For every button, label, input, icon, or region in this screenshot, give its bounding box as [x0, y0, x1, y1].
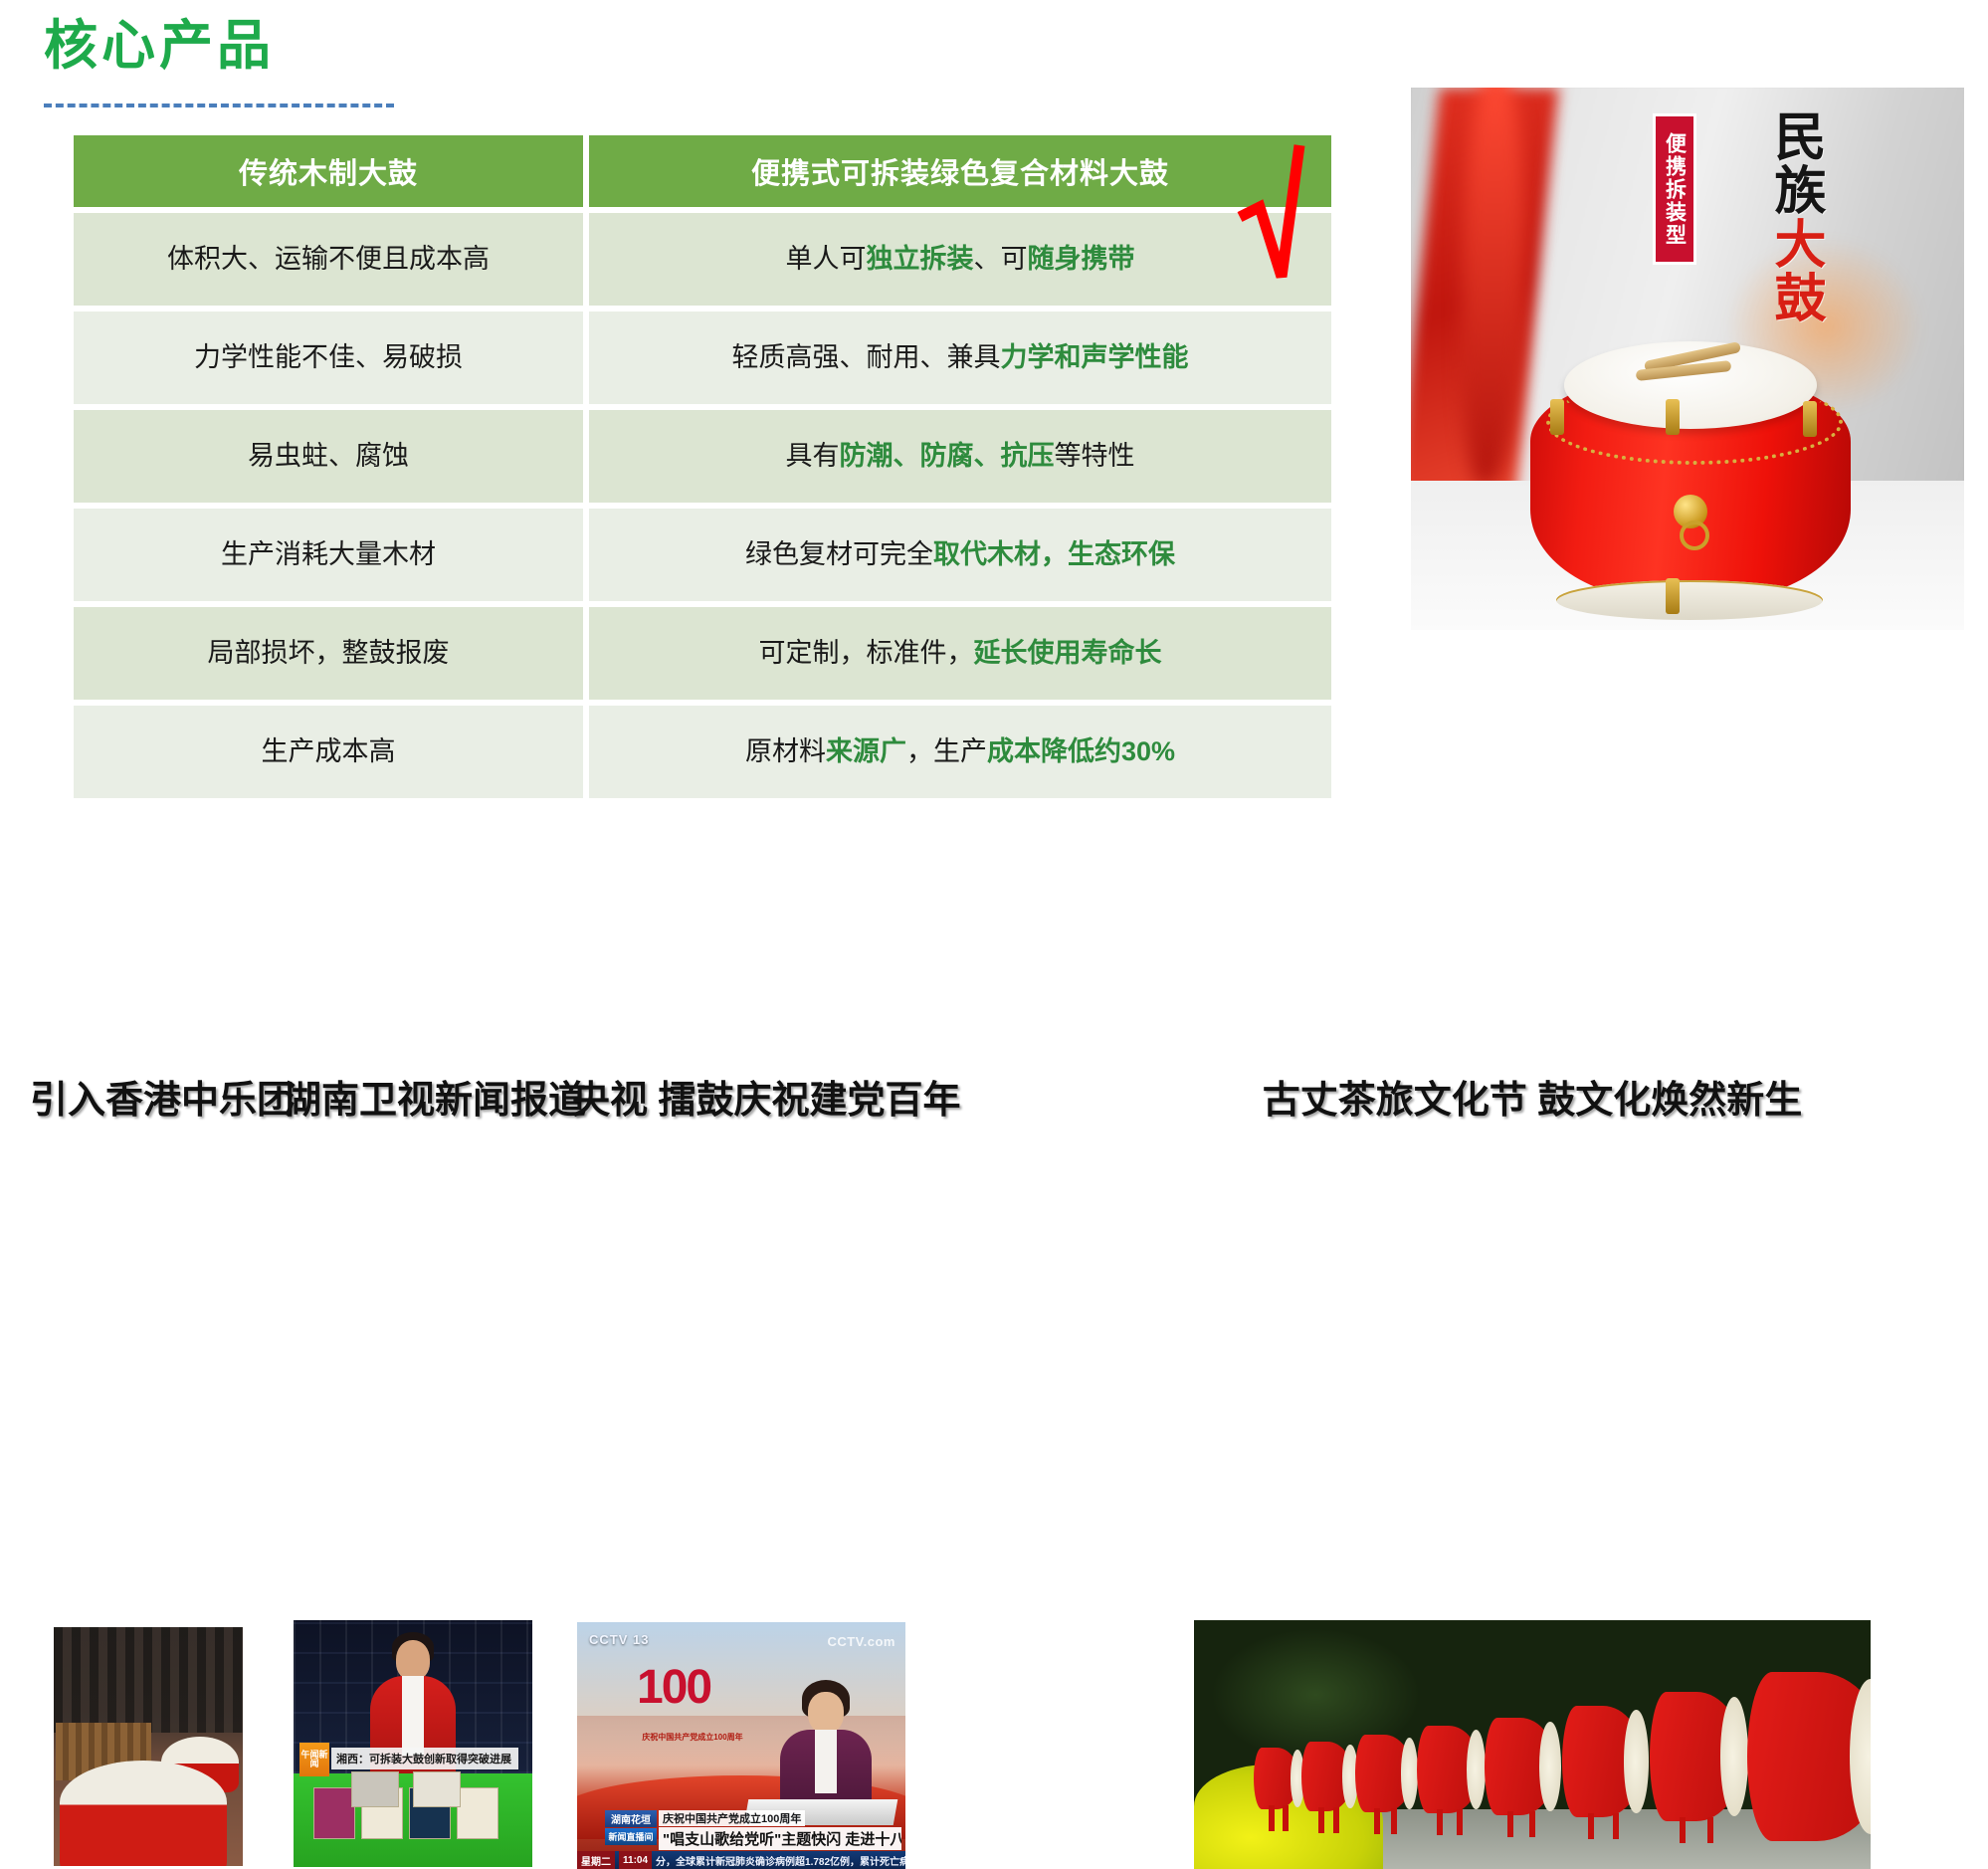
photo-strip: 午闻新闻 湘西：可拆装大鼓创新取得突破进展 CCTV 13 CCTV.com 1…	[0, 806, 1988, 1065]
table-cell-composite: 轻质高强、耐用、兼具力学和声学性能	[589, 311, 1331, 404]
photo-hunan-tv: 午闻新闻 湘西：可拆装大鼓创新取得突破进展	[294, 1620, 532, 1867]
festival-drum	[1417, 1726, 1481, 1813]
table-cell-traditional: 生产消耗大量木材	[74, 509, 583, 601]
table-header-row: 传统木制大鼓 便携式可拆装绿色复合材料大鼓	[74, 135, 1331, 207]
cctv-web-bug: CCTV.com	[827, 1634, 895, 1649]
festival-drum	[1562, 1706, 1644, 1817]
photo-cctv-news: CCTV 13 CCTV.com 100 庆祝中国共产党成立100周年 湖南花垣…	[577, 1622, 905, 1869]
photo-anchor-face	[808, 1692, 844, 1734]
party-centenary-logo-subtitle: 庆祝中国共产党成立100周年	[629, 1732, 756, 1743]
drum-bottom-rim	[1556, 580, 1823, 620]
table-row: 生产消耗大量木材 绿色复材可完全取代木材，生态环保	[74, 509, 1331, 601]
table-cell-traditional: 生产成本高	[74, 706, 583, 798]
table-cell-composite: 原材料来源广，生产成本降低约30%	[589, 706, 1331, 798]
news-headline-main: "唱支山歌给党听"主题快闪 走进十八洞村	[659, 1827, 901, 1850]
photo-anchor-shirt	[402, 1676, 424, 1756]
product-title-red: 大鼓	[1765, 217, 1826, 324]
photo-anchor-shirt	[815, 1730, 837, 1793]
caption-hunan-tv: 湖南卫视新闻报道	[284, 1069, 547, 1124]
photo-certificate	[413, 1771, 461, 1807]
page-title: 核心产品	[44, 18, 275, 75]
news-ticker-time: 11:04	[619, 1851, 652, 1869]
photo-seats-background	[54, 1627, 243, 1733]
photo-program-badge: 午闻新闻	[299, 1743, 329, 1776]
table-cell-traditional: 力学性能不佳、易破损	[74, 311, 583, 404]
table-row: 体积大、运输不便且成本高 单人可独立拆装、可随身携带	[74, 213, 1331, 306]
festival-drum	[1301, 1742, 1353, 1811]
drum-clip	[1803, 401, 1817, 437]
photo-certificate	[457, 1787, 498, 1839]
title-underline-rule	[44, 104, 394, 107]
party-centenary-logo: 100	[637, 1664, 746, 1726]
table-row: 易虫蛀、腐蚀 具有防潮、防腐、抗压等特性	[74, 410, 1331, 503]
drum-illustration	[1516, 327, 1865, 626]
table-header-composite: 便携式可拆装绿色复合材料大鼓	[589, 135, 1331, 207]
drum-clip	[1550, 399, 1564, 435]
photo-captions: 引入香港中乐团 湖南卫视新闻报道 央视 擂鼓庆祝建党百年 古丈茶旅文化节 鼓文化…	[0, 1069, 1988, 1139]
festival-drum	[1254, 1748, 1299, 1809]
table-row: 力学性能不佳、易破损 轻质高强、耐用、兼具力学和声学性能	[74, 311, 1331, 404]
title-block: 核心产品	[44, 18, 275, 75]
photo-lower-third: 湘西：可拆装大鼓创新取得突破进展	[331, 1748, 518, 1769]
photo-big-drum	[60, 1761, 227, 1866]
festival-drum	[1650, 1692, 1743, 1821]
festival-drum	[1485, 1718, 1556, 1815]
festival-drum	[1355, 1735, 1413, 1812]
drum-brass-ring-handle	[1674, 495, 1707, 528]
news-ticker-day: 星期二	[577, 1851, 615, 1869]
news-ticker-text: 分，全球累计新冠肺炎确诊病例超1.782亿例，累计死亡病例超386万例。	[656, 1853, 905, 1868]
table-header-traditional: 传统木制大鼓	[74, 135, 583, 207]
news-location-tag: 湖南花垣	[605, 1810, 657, 1827]
table-cell-composite: 单人可独立拆装、可随身携带	[589, 213, 1331, 306]
drum-clip	[1666, 578, 1680, 614]
table-row: 生产成本高 原材料来源广，生产成本降低约30%	[74, 706, 1331, 798]
product-title-calligraphy: 民族大鼓	[1692, 109, 1822, 324]
photo-hk-orchestra	[54, 1627, 243, 1866]
product-title-black: 民族	[1765, 109, 1826, 217]
product-comparison-table: 传统木制大鼓 便携式可拆装绿色复合材料大鼓 体积大、运输不便且成本高 单人可独立…	[74, 135, 1331, 798]
news-ticker: 星期二 11:04 分，全球累计新冠肺炎确诊病例超1.782亿例，累计死亡病例超…	[577, 1851, 905, 1869]
caption-tea-festival: 古丈茶旅文化节 鼓文化焕然新生	[1184, 1069, 1881, 1124]
photo-news-anchor	[780, 1680, 872, 1807]
table-cell-traditional: 局部损坏，整鼓报废	[74, 607, 583, 700]
photo-tea-festival	[1194, 1620, 1871, 1869]
cctv-channel-bug: CCTV 13	[589, 1632, 649, 1647]
caption-cctv-news: 央视 擂鼓庆祝建党百年	[572, 1069, 915, 1124]
table-cell-composite: 绿色复材可完全取代木材，生态环保	[589, 509, 1331, 601]
photo-certificate	[313, 1787, 355, 1839]
table-row: 局部损坏，整鼓报废 可定制，标准件，延长使用寿命长	[74, 607, 1331, 700]
table-cell-composite: 可定制，标准件，延长使用寿命长	[589, 607, 1331, 700]
drum-clip	[1666, 399, 1680, 435]
photo-anchor-head	[396, 1640, 430, 1680]
product-badge: 便携拆装型	[1653, 113, 1696, 265]
news-program-tag: 新闻直播间	[605, 1828, 657, 1845]
festival-drum-foreground	[1747, 1672, 1871, 1841]
product-hero-image: 便携拆装型 民族大鼓	[1411, 88, 1964, 630]
caption-hk-orchestra: 引入香港中乐团	[30, 1069, 269, 1124]
photo-certificate	[351, 1771, 399, 1807]
table-cell-composite: 具有防潮、防腐、抗压等特性	[589, 410, 1331, 503]
product-badge-label: 便携拆装型	[1665, 132, 1686, 247]
news-headline-top: 庆祝中国共产党成立100周年	[659, 1810, 805, 1826]
table-cell-traditional: 体积大、运输不便且成本高	[74, 213, 583, 306]
table-cell-traditional: 易虫蛀、腐蚀	[74, 410, 583, 503]
